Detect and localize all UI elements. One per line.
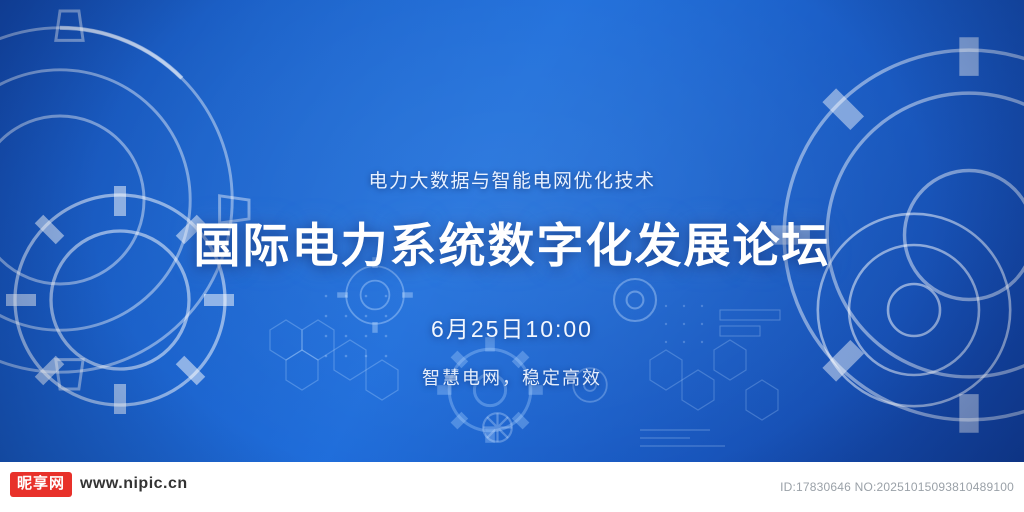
poster-canvas: 电力大数据与智能电网优化技术 国际电力系统数字化发展论坛 6月25日10:00 … <box>0 0 1024 512</box>
brand-url: www.nipic.cn <box>80 475 188 493</box>
image-id-text: ID:17830646 NO:20251015093810489100 <box>780 480 1014 494</box>
footer-bar: 昵享网 www.nipic.cn ID:17830646 NO:20251015… <box>0 462 1024 512</box>
poster-subtitle-top: 电力大数据与智能电网优化技术 <box>0 166 1024 193</box>
banner-background: 电力大数据与智能电网优化技术 国际电力系统数字化发展论坛 6月25日10:00 … <box>0 0 1024 462</box>
poster-datetime: 6月25日10:00 <box>0 310 1024 344</box>
poster-main-title: 国际电力系统数字化发展论坛 <box>0 207 1024 276</box>
brand-badge: 昵享网 <box>10 472 72 497</box>
poster-slogan: 智慧电网，稳定高效 <box>0 364 1024 390</box>
brand-block: 昵享网 www.nipic.cn <box>10 472 188 497</box>
poster-text-block: 电力大数据与智能电网优化技术 国际电力系统数字化发展论坛 6月25日10:00 … <box>0 0 1024 390</box>
